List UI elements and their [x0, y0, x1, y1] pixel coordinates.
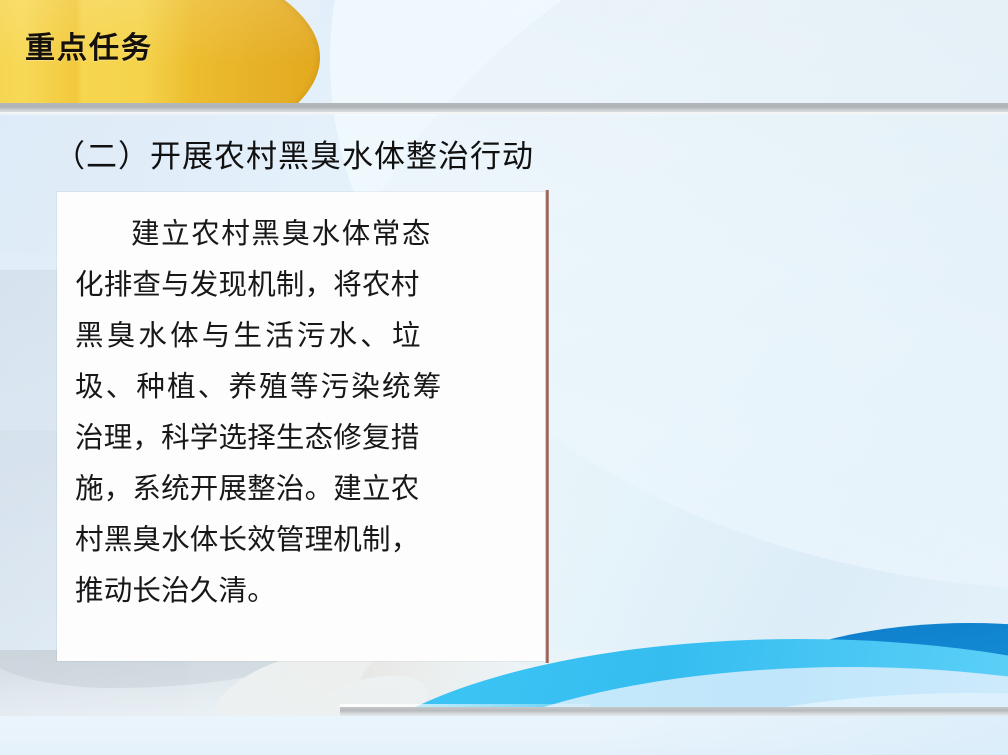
- content-line: 推动长治久清。: [75, 565, 532, 616]
- footer-divider-highlight: [340, 704, 590, 707]
- content-line: 黑臭水体与生活污水、垃: [75, 310, 532, 361]
- section-heading: （二）开展农村黑臭水体整治行动: [54, 131, 534, 176]
- content-line: 化排查与发现机制，将农村: [75, 259, 532, 310]
- footer-base-tint: [600, 716, 1008, 755]
- content-line: 施，系统开展整治。建立农: [75, 463, 532, 514]
- content-line: 建立农村黑臭水体常态: [75, 208, 532, 259]
- banner-title-text: 重点任务: [25, 34, 153, 64]
- footer-divider-rule: [340, 707, 1008, 716]
- content-card-right-edge: [545, 190, 549, 663]
- content-card-text: 建立农村黑臭水体常态 化排查与发现机制，将农村 黑臭水体与生活污水、垃 圾、种植…: [57, 192, 547, 624]
- content-card: 建立农村黑臭水体常态 化排查与发现机制，将农村 黑臭水体与生活污水、垃 圾、种植…: [57, 192, 547, 661]
- header-divider-highlight: [0, 112, 1008, 116]
- content-line: 治理，科学选择生态修复措: [75, 412, 532, 463]
- slide-canvas: 重点任务 （二）开展农村黑臭水体整治行动 建立农村黑臭水体常态 化排查与发现机制…: [0, 0, 1008, 755]
- content-line: 圾、种植、养殖等污染统筹: [75, 361, 532, 412]
- content-line: 村黑臭水体长效管理机制，: [75, 514, 532, 565]
